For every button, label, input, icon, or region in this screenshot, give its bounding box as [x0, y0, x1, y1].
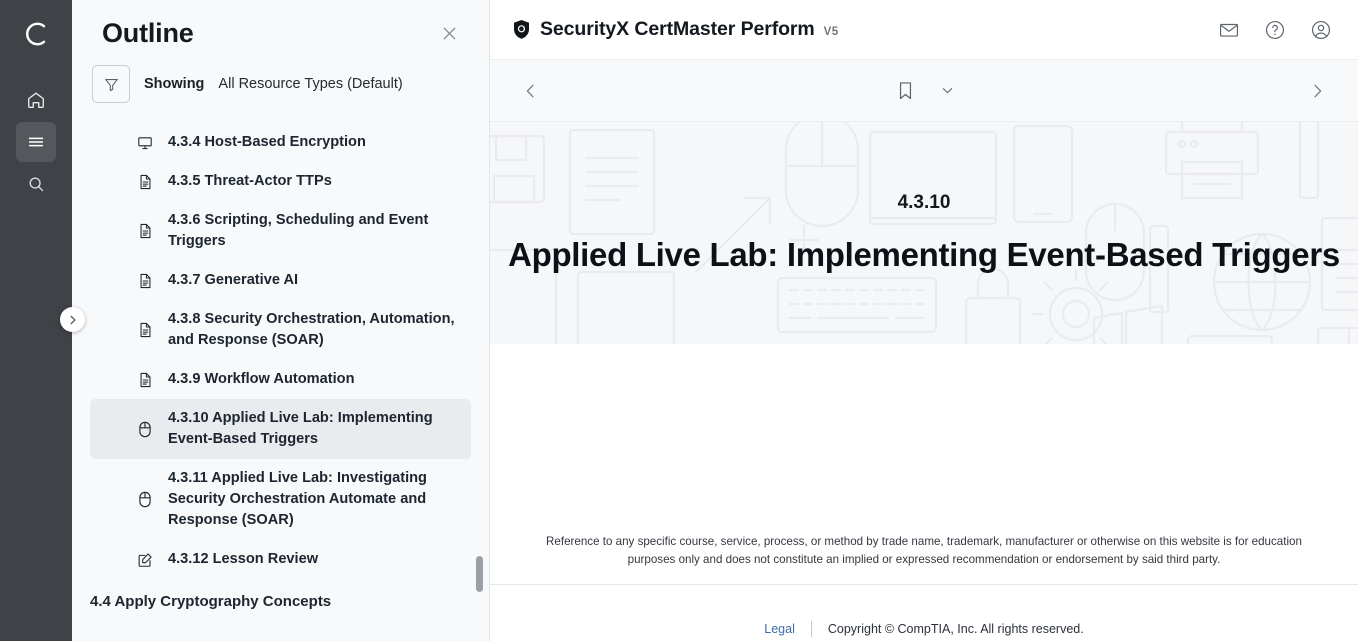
outline-group-header[interactable]: 4.4 Apply Cryptography Concepts: [90, 579, 471, 620]
help-circle-icon[interactable]: [1262, 17, 1288, 43]
list-item-label: 4.3.11 Applied Live Lab: Investigating S…: [140, 468, 457, 531]
list-item[interactable]: 4.3.4 Host-Based Encryption: [90, 123, 471, 162]
list-item-label: 4.3.7 Generative AI: [140, 270, 298, 291]
comptia-c-logo[interactable]: [16, 14, 56, 54]
previous-page-button[interactable]: [516, 76, 546, 106]
lesson-title: Applied Live Lab: Implementing Event-Bas…: [508, 236, 1340, 274]
list-item[interactable]: 4.3.5 Threat-Actor TTPs: [90, 162, 471, 201]
shield-icon: [512, 19, 531, 40]
legal-link[interactable]: Legal: [764, 622, 811, 636]
list-item-label: 4.3.9 Workflow Automation: [140, 369, 355, 390]
main-content: SecurityX CertMaster Perform V5: [490, 0, 1358, 641]
brand: SecurityX CertMaster Perform V5: [512, 18, 839, 41]
outline-scrollbar-track[interactable]: [476, 128, 483, 628]
lesson-hero-banner: 4.3.10 Applied Live Lab: Implementing Ev…: [490, 122, 1358, 344]
list-item-label: 4.3.10 Applied Live Lab: Implementing Ev…: [140, 408, 457, 450]
document-icon: [136, 371, 154, 389]
content-nav-bar: [490, 60, 1358, 122]
brand-name: SecurityX CertMaster Perform: [540, 18, 815, 41]
mouse-icon: [136, 491, 154, 509]
showing-label: Showing: [144, 76, 204, 92]
bookmark-controls: [490, 76, 1358, 106]
document-icon: [136, 173, 154, 191]
list-item-label: 4.3.5 Threat-Actor TTPs: [140, 171, 332, 192]
top-bar-actions: [1216, 17, 1334, 43]
list-item[interactable]: 4.3.7 Generative AI: [90, 261, 471, 300]
mouse-icon: [136, 420, 154, 438]
outline-list: 4.3.4 Host-Based Encryption 4.3.5 Threat…: [72, 115, 489, 641]
copyright-text: Copyright © CompTIA, Inc. All rights res…: [812, 622, 1084, 636]
list-item[interactable]: 4.3.11 Applied Live Lab: Investigating S…: [90, 459, 471, 540]
document-icon: [136, 321, 154, 339]
disclaimer-text: Reference to any specific course, servic…: [490, 533, 1358, 584]
icon-rail: [0, 0, 72, 641]
showing-value[interactable]: All Resource Types (Default): [218, 76, 402, 92]
filter-funnel-icon[interactable]: [92, 65, 130, 103]
outline-scrollbar-thumb[interactable]: [476, 556, 483, 592]
chevron-down-icon[interactable]: [937, 81, 957, 101]
list-item[interactable]: 4.3.6 Scripting, Scheduling and Event Tr…: [90, 201, 471, 261]
filter-row: Showing All Resource Types (Default): [72, 57, 489, 115]
list-item[interactable]: 4.3.8 Security Orchestration, Automation…: [90, 300, 471, 360]
list-item-label: 4.3.12 Lesson Review: [140, 549, 318, 570]
decorative-tech-pattern: [490, 122, 1358, 344]
search-icon[interactable]: [16, 164, 56, 204]
outline-menu-icon[interactable]: [16, 122, 56, 162]
close-icon[interactable]: [435, 20, 463, 48]
app-root: Outline Showing All Resource Types (Defa…: [0, 0, 1358, 641]
next-page-button[interactable]: [1302, 76, 1332, 106]
document-icon: [136, 272, 154, 290]
edit-square-icon: [136, 551, 154, 569]
page-title: Outline: [102, 18, 194, 49]
bookmark-icon[interactable]: [891, 76, 919, 106]
monitor-icon: [136, 134, 154, 152]
list-item-label: 4.3.6 Scripting, Scheduling and Event Tr…: [140, 210, 457, 252]
list-item[interactable]: 4.3.12 Lesson Review: [90, 540, 471, 579]
brand-version: V5: [824, 26, 839, 38]
page-footer: Legal Copyright © CompTIA, Inc. All righ…: [490, 584, 1358, 641]
lesson-number: 4.3.10: [898, 192, 951, 214]
list-item-label: 4.3.8 Security Orchestration, Automation…: [140, 309, 457, 351]
home-icon[interactable]: [16, 80, 56, 120]
mail-icon[interactable]: [1216, 17, 1242, 43]
lesson-body: Reference to any specific course, servic…: [490, 344, 1358, 641]
panel-expand-handle[interactable]: [60, 307, 85, 332]
list-item-label: 4.3.4 Host-Based Encryption: [140, 132, 366, 153]
outline-header: Outline: [72, 0, 489, 57]
list-item[interactable]: 4.3.9 Workflow Automation: [90, 360, 471, 399]
outline-panel: Outline Showing All Resource Types (Defa…: [72, 0, 490, 641]
document-icon: [136, 222, 154, 240]
user-account-icon[interactable]: [1308, 17, 1334, 43]
list-item-selected[interactable]: 4.3.10 Applied Live Lab: Implementing Ev…: [90, 399, 471, 459]
top-bar: SecurityX CertMaster Perform V5: [490, 0, 1358, 60]
